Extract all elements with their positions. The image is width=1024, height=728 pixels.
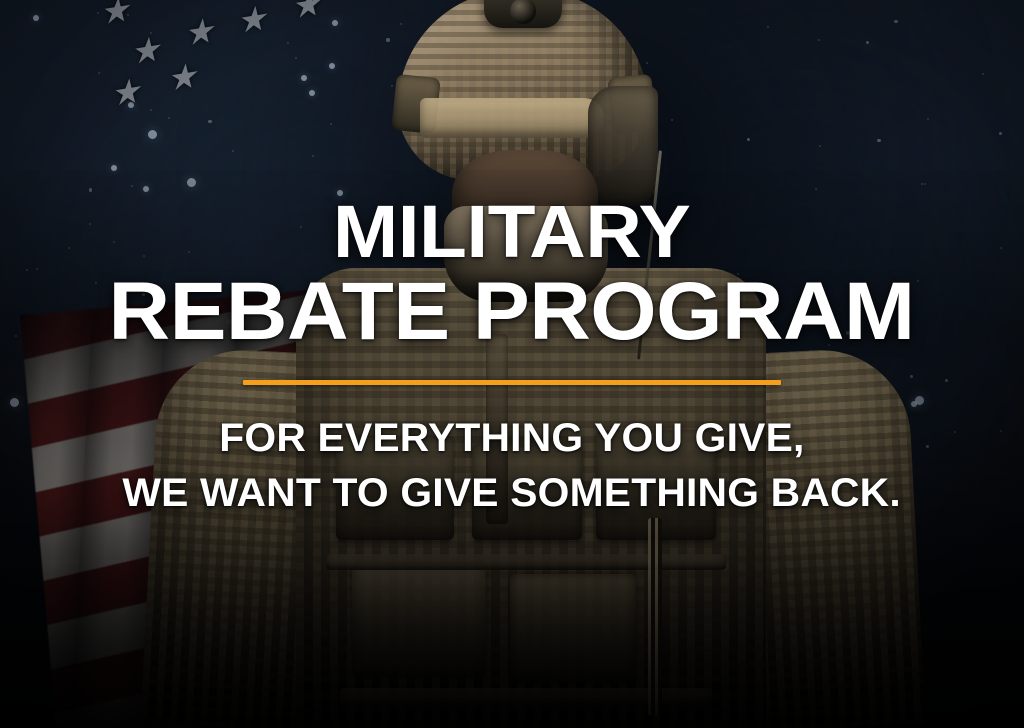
subheadline-line-2: WE WANT TO GIVE SOMETHING BACK. bbox=[123, 470, 902, 517]
banner-content: MILITARY REBATE PROGRAM FOR EVERYTHING Y… bbox=[0, 0, 1024, 728]
headline-line-1: MILITARY bbox=[333, 196, 690, 267]
headline-line-2: REBATE PROGRAM bbox=[109, 273, 915, 352]
military-rebate-banner: ★★★★★★★★★★ bbox=[0, 0, 1024, 728]
accent-divider-rule bbox=[243, 380, 781, 385]
subheadline-line-1: FOR EVERYTHING YOU GIVE, bbox=[219, 415, 804, 462]
